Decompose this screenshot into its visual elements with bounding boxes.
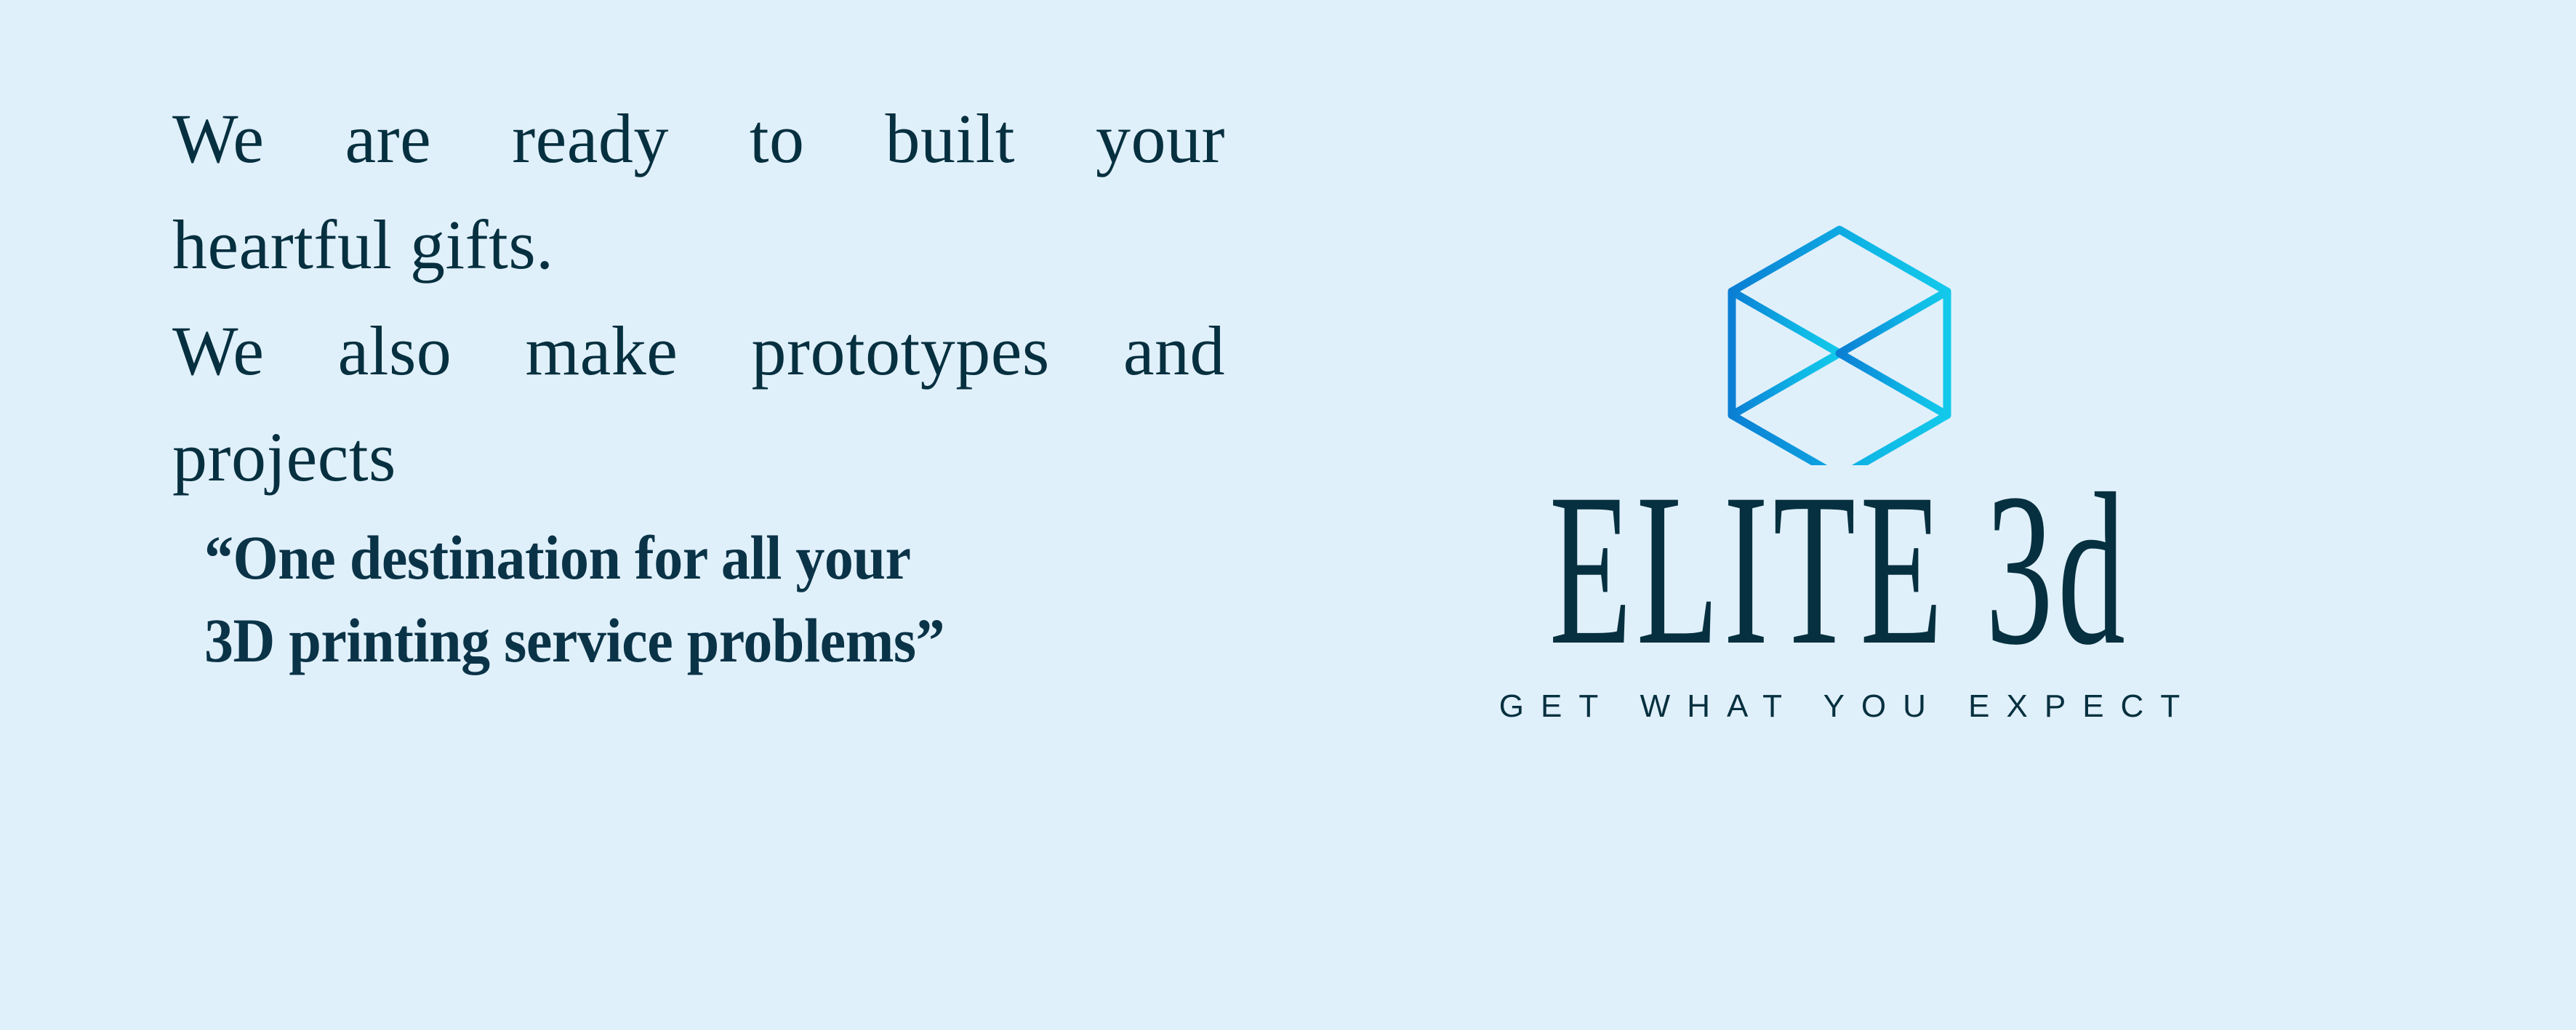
headline-line-2: heartful gifts. — [172, 192, 1225, 298]
logo-wordmark: ELITE 3d — [1524, 475, 2155, 663]
headline-line-3: We also make prototypes and — [172, 298, 1225, 404]
quote-line-1: “One destination for all your — [204, 516, 1154, 599]
tagline-quote-block: “One destination for all your 3D printin… — [172, 516, 1225, 683]
logo-tagline: GET WHAT YOU EXPECT — [1331, 691, 2348, 723]
headline-copy-block: We are ready to built your heartful gift… — [172, 86, 1225, 682]
headline-line-4: projects — [172, 404, 1225, 510]
headline-line-1: We are ready to built your — [172, 86, 1225, 192]
brand-logo-block: ELITE 3d GET WHAT YOU EXPECT — [1331, 218, 2348, 723]
quote-line-2: 3D printing service problems” — [204, 599, 1154, 682]
isometric-cube-icon — [1716, 218, 1963, 465]
promo-banner: We are ready to built your heartful gift… — [0, 0, 2576, 1030]
